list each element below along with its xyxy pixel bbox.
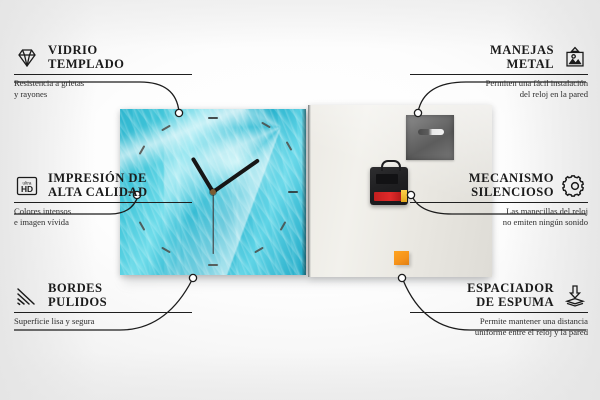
clock-hour-hand: [191, 157, 215, 193]
callout-impresion-alta-calidad: ultra HD IMPRESIÓN DE ALTA CALIDAD Color…: [14, 172, 192, 228]
callout-rule: [14, 74, 192, 75]
callout-rule: [14, 202, 192, 203]
callout-espaciador-espuma: ESPACIADOR DE ESPUMA Permite mantener un…: [410, 282, 588, 338]
back-panel-edge: [308, 105, 311, 277]
callout-title: BORDES PULIDOS: [48, 282, 107, 309]
quartz-mechanism: [370, 167, 408, 205]
callout-rule: [14, 312, 192, 313]
callout-description: Resistencia a grietas y rayones: [14, 78, 192, 100]
metal-hanger-plate: [406, 115, 454, 160]
callout-title: MECANISMO SILENCIOSO: [469, 172, 554, 199]
ultra-hd-icon: ultra HD: [14, 174, 40, 198]
battery-label: [374, 192, 404, 201]
callout-description: Superficie lisa y segura: [14, 316, 192, 327]
infographic-canvas: VIDRIO TEMPLADO Resistencia a grietas y …: [0, 0, 600, 400]
callout-description: Permite mantener una distancia uniforme …: [410, 316, 588, 338]
callout-description: Colores intensos e imagen vívida: [14, 206, 192, 228]
mechanism-hook: [381, 160, 401, 171]
callout-bordes-pulidos: BORDES PULIDOS Superficie lisa y segura: [14, 282, 192, 327]
callout-rule: [410, 202, 588, 203]
callout-title: MANEJAS METAL: [490, 44, 554, 71]
clock-second-hand: [212, 192, 213, 254]
clock-center-cap: [210, 189, 216, 195]
mechanism-body: [376, 174, 398, 184]
callout-manejas-metal: MANEJAS METAL Permiten una fácil instala…: [410, 44, 588, 100]
gear-icon: [562, 174, 588, 198]
glass-edge: [302, 109, 306, 275]
wall-hanging-frame-icon: [562, 46, 588, 70]
callout-rule: [410, 312, 588, 313]
callout-title: IMPRESIÓN DE ALTA CALIDAD: [48, 172, 148, 199]
diamond-icon: [14, 46, 40, 70]
clock-minute-hand: [212, 158, 260, 193]
callout-description: Las manecillas del reloj no emiten ningú…: [410, 206, 588, 228]
svg-text:HD: HD: [21, 184, 33, 194]
callout-title: VIDRIO TEMPLADO: [48, 44, 124, 71]
callout-mecanismo-silencioso: MECANISMO SILENCIOSO Las manecillas del …: [410, 172, 588, 228]
hanger-slot: [418, 129, 444, 135]
callout-rule: [410, 74, 588, 75]
polished-edges-icon: [14, 284, 40, 308]
foam-spacer: [394, 251, 409, 265]
callout-title: ESPACIADOR DE ESPUMA: [467, 282, 554, 309]
callout-description: Permiten una fácil instalación del reloj…: [410, 78, 588, 100]
callout-vidrio-templado: VIDRIO TEMPLADO Resistencia a grietas y …: [14, 44, 192, 100]
foam-spacer-icon: [562, 284, 588, 308]
